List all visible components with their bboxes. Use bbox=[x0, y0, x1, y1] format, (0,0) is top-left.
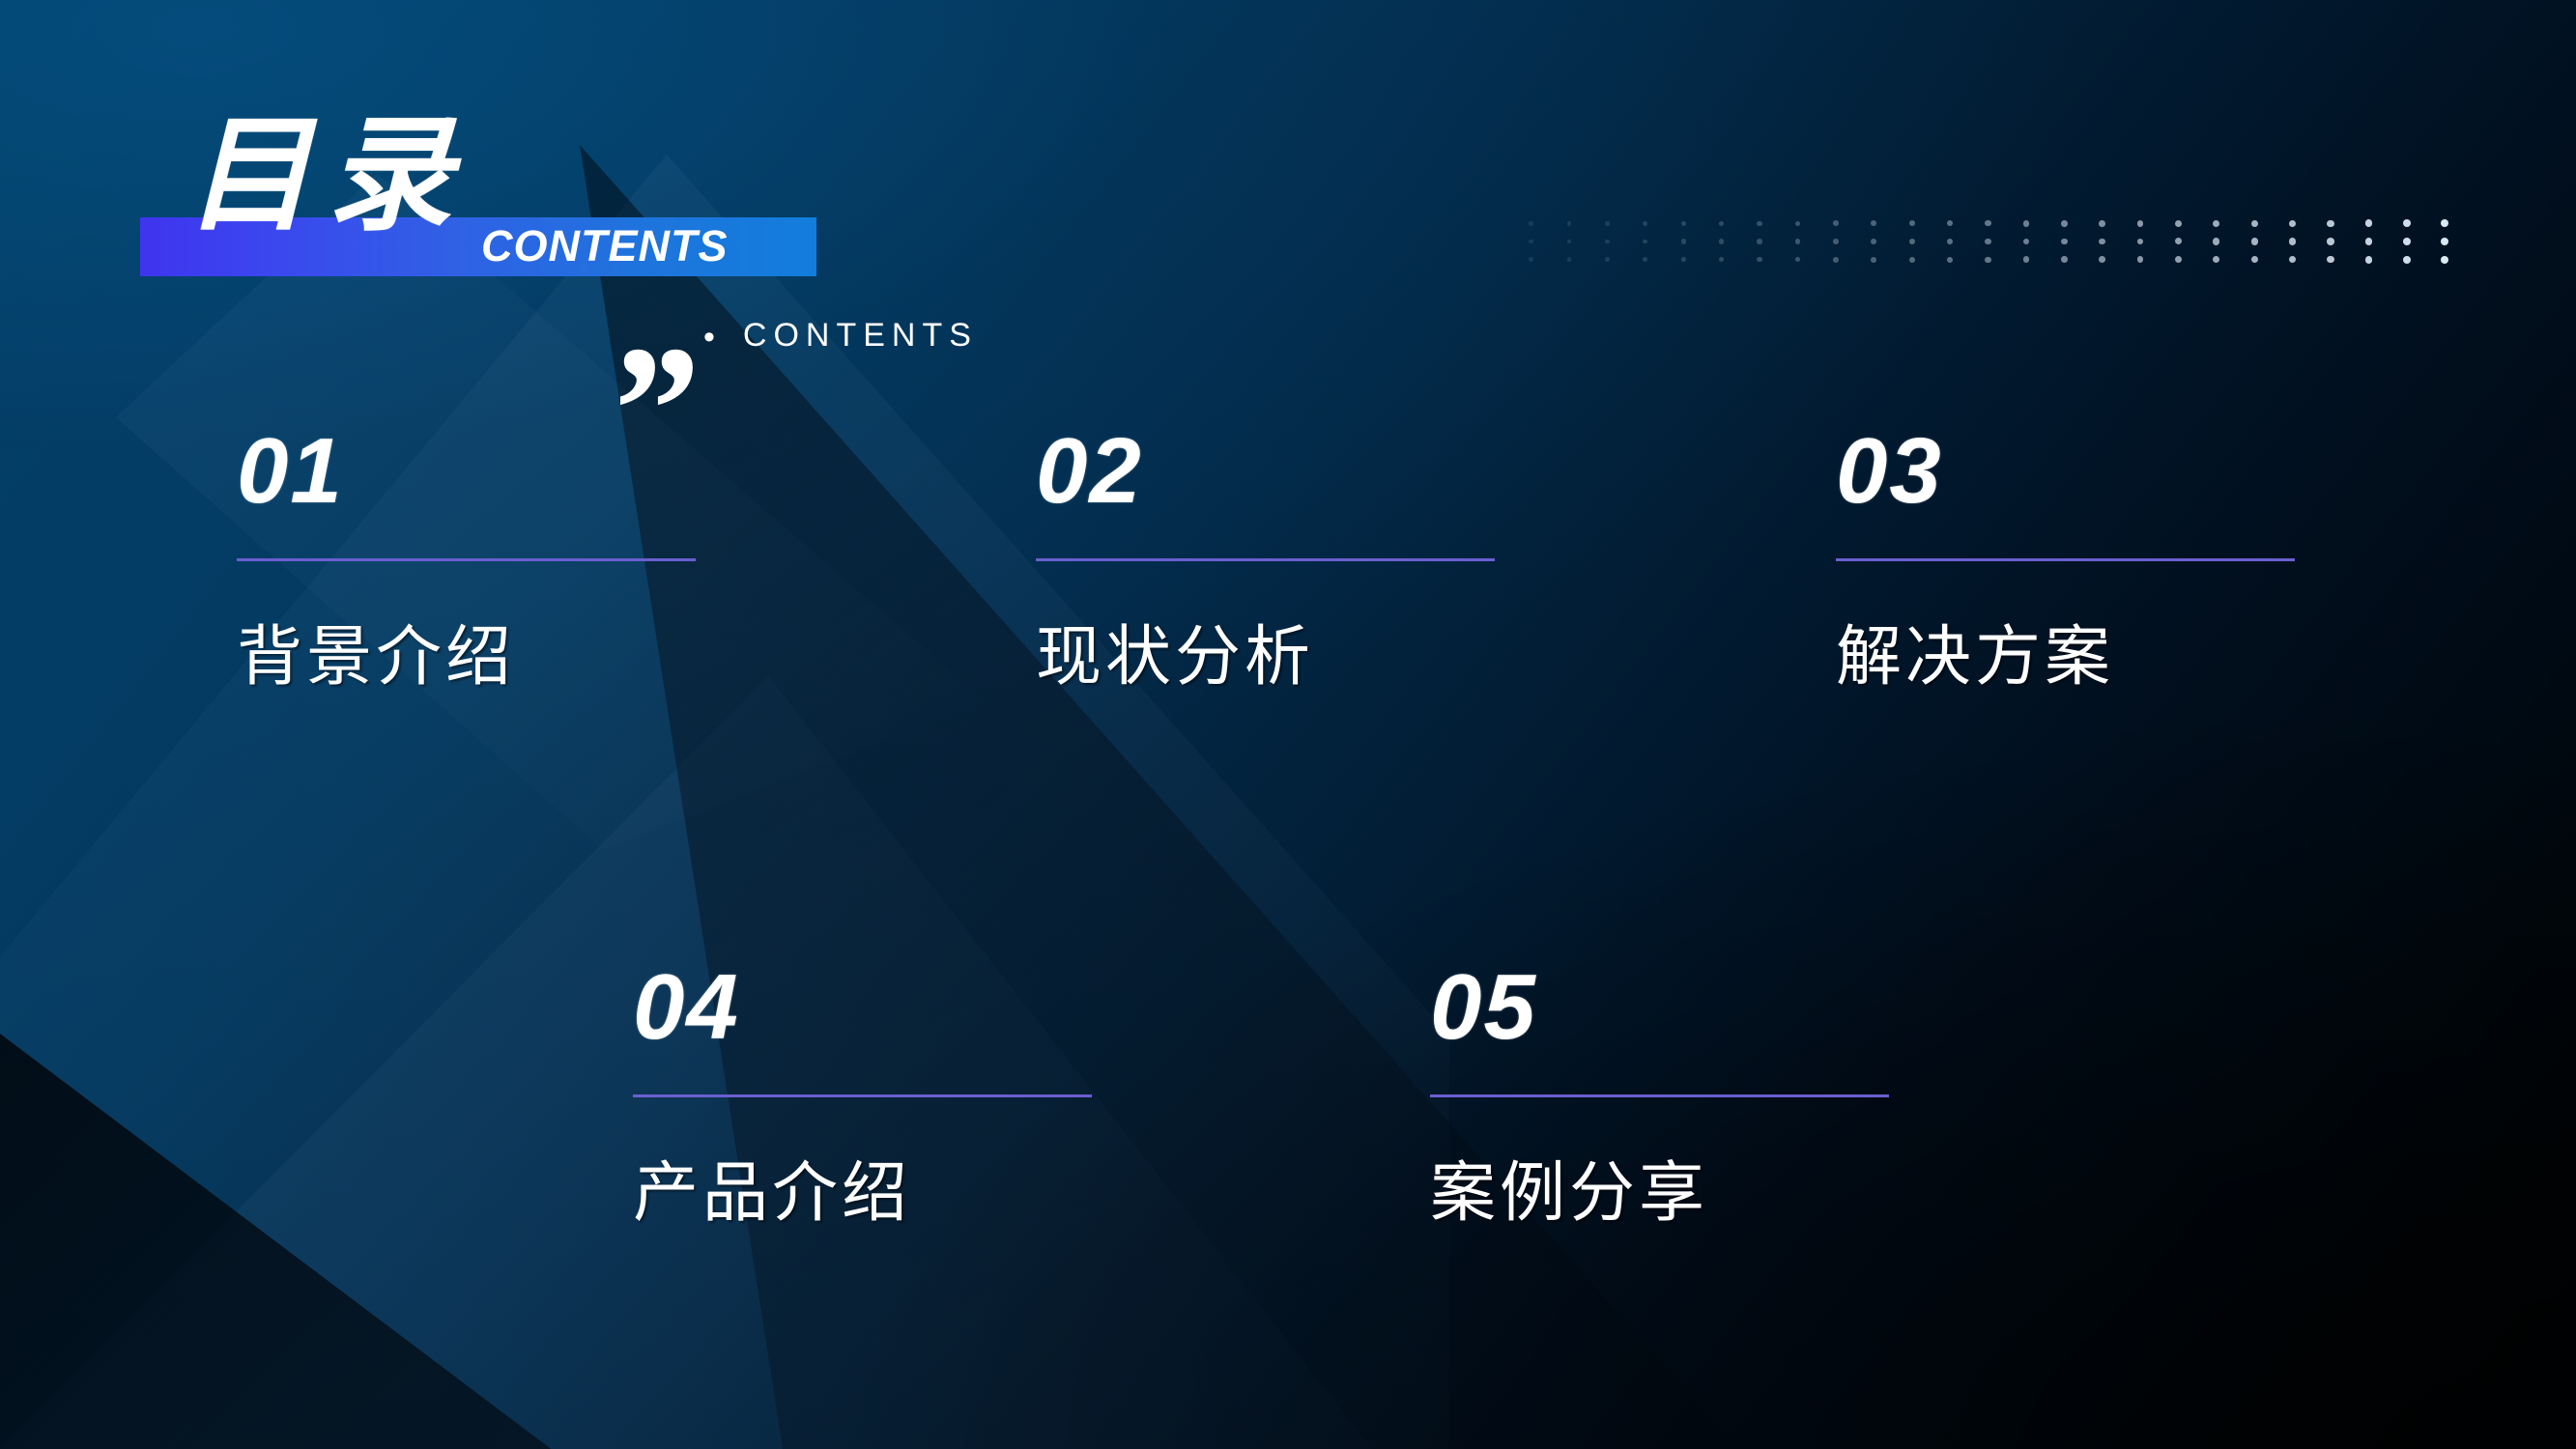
dot bbox=[1985, 239, 1990, 244]
dot bbox=[2251, 238, 2258, 244]
dot bbox=[1643, 221, 1647, 226]
dot bbox=[2327, 256, 2334, 264]
dot bbox=[2251, 256, 2258, 263]
subtitle-contents: •CONTENTS bbox=[703, 319, 978, 354]
dot bbox=[2099, 220, 2105, 227]
dot bbox=[2061, 220, 2068, 227]
dot bbox=[2441, 219, 2448, 227]
item-number: 04 bbox=[633, 961, 1092, 1054]
dot bbox=[2403, 256, 2411, 264]
dot bbox=[2441, 238, 2448, 245]
page-title-english: CONTENTS bbox=[481, 224, 729, 268]
dot bbox=[1605, 221, 1610, 226]
dot bbox=[2099, 239, 2105, 245]
dot bbox=[2137, 256, 2144, 263]
dot bbox=[1757, 257, 1761, 262]
dot bbox=[1605, 240, 1610, 244]
dot bbox=[2061, 239, 2068, 245]
dot bbox=[1833, 257, 1839, 263]
dot bbox=[2061, 256, 2068, 263]
item-divider bbox=[633, 1094, 1092, 1097]
item-label: 现状分析 bbox=[1036, 621, 1495, 694]
item-number: 03 bbox=[1836, 425, 2295, 518]
dot bbox=[2289, 256, 2296, 263]
dot bbox=[1529, 221, 1533, 226]
dot bbox=[1567, 257, 1572, 262]
dot bbox=[2023, 256, 2029, 262]
dot bbox=[2213, 220, 2219, 227]
dot bbox=[1681, 239, 1686, 243]
dot bbox=[1529, 240, 1533, 244]
dot bbox=[2289, 238, 2296, 244]
item-number: 01 bbox=[237, 425, 696, 518]
dot bbox=[2175, 256, 2182, 263]
item-divider bbox=[1430, 1094, 1889, 1097]
dot bbox=[2213, 238, 2219, 244]
dot bbox=[2175, 220, 2182, 227]
dot bbox=[2099, 256, 2105, 263]
dot bbox=[2289, 220, 2296, 227]
dot bbox=[2213, 256, 2219, 263]
item-divider bbox=[1036, 558, 1495, 561]
dot bbox=[1681, 221, 1686, 226]
dot bbox=[1719, 257, 1724, 262]
dot bbox=[1871, 257, 1876, 263]
dot bbox=[1605, 257, 1610, 262]
dot bbox=[1795, 239, 1801, 244]
dot bbox=[2327, 220, 2334, 228]
dot bbox=[1947, 257, 1953, 263]
dot bbox=[1795, 257, 1801, 263]
dot bbox=[2251, 220, 2258, 227]
dot bbox=[2403, 238, 2411, 245]
contents-item-02[interactable]: 02 现状分析 bbox=[1036, 425, 1495, 694]
dot bbox=[2441, 256, 2448, 264]
contents-slide: 目录 CONTENTS ” •CONTENTS 01 背景介绍 02 现状分析 … bbox=[0, 0, 2576, 1449]
contents-item-01[interactable]: 01 背景介绍 bbox=[237, 425, 696, 694]
dot bbox=[1643, 257, 1647, 262]
dot bbox=[2023, 239, 2029, 244]
dot bbox=[1529, 257, 1533, 262]
dot bbox=[1757, 239, 1761, 243]
dot bbox=[1757, 221, 1761, 226]
dot bbox=[1681, 257, 1686, 262]
dot bbox=[1719, 221, 1724, 226]
bullet-icon: • bbox=[703, 321, 722, 354]
dot bbox=[1833, 239, 1839, 244]
dot bbox=[2175, 238, 2182, 244]
item-label: 案例分享 bbox=[1430, 1157, 1889, 1230]
dot bbox=[2137, 220, 2144, 227]
item-label: 背景介绍 bbox=[237, 621, 696, 694]
dot bbox=[1833, 220, 1839, 226]
page-title: 目录 bbox=[186, 114, 468, 240]
dot bbox=[2365, 219, 2373, 227]
dot bbox=[1985, 257, 1990, 263]
dot bbox=[2023, 220, 2029, 226]
dot bbox=[1909, 220, 1915, 226]
dot bbox=[2327, 238, 2334, 245]
dot bbox=[1947, 239, 1953, 244]
dot bbox=[1909, 257, 1915, 263]
item-label: 解决方案 bbox=[1836, 621, 2295, 694]
dot bbox=[1871, 220, 1876, 226]
item-label: 产品介绍 bbox=[633, 1157, 1092, 1230]
dot bbox=[1909, 239, 1915, 244]
dot bbox=[2137, 239, 2144, 245]
contents-item-04[interactable]: 04 产品介绍 bbox=[633, 961, 1092, 1230]
item-divider bbox=[237, 558, 696, 561]
dot bbox=[1567, 221, 1572, 226]
dot bbox=[1795, 221, 1801, 227]
item-number: 05 bbox=[1430, 961, 1889, 1054]
dot bbox=[2365, 256, 2373, 264]
dot bbox=[1567, 240, 1572, 244]
dot-grid-decoration bbox=[1512, 214, 2464, 269]
dot bbox=[1985, 220, 1990, 226]
dot bbox=[1947, 220, 1953, 226]
item-divider bbox=[1836, 558, 2295, 561]
dot bbox=[2403, 219, 2411, 227]
subtitle-label: CONTENTS bbox=[743, 317, 978, 354]
contents-item-05[interactable]: 05 案例分享 bbox=[1430, 961, 1889, 1230]
dot bbox=[1643, 240, 1647, 244]
contents-item-03[interactable]: 03 解决方案 bbox=[1836, 425, 2295, 694]
item-number: 02 bbox=[1036, 425, 1495, 518]
dot bbox=[1719, 239, 1724, 243]
dot bbox=[2365, 238, 2373, 245]
dot bbox=[1871, 239, 1876, 244]
